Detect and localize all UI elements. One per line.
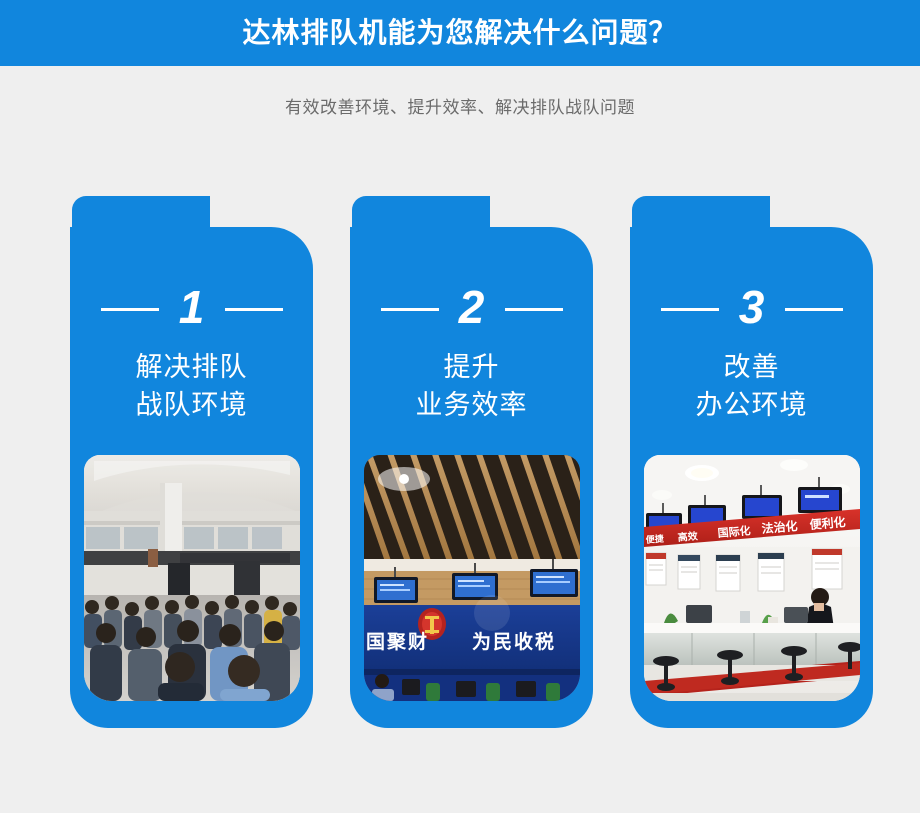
card-headline-line2: 办公环境 [630, 386, 873, 424]
divider-rule-right [225, 308, 283, 311]
card-number: 1 [177, 284, 207, 330]
card-number-row: 2 [350, 283, 593, 335]
svg-text:法治化: 法治化 [761, 518, 798, 536]
page-subtitle: 有效改善环境、提升效率、解决排队战队问题 [285, 93, 635, 118]
card-headline-line1: 提升 [444, 352, 500, 382]
crowded-waiting-hall-photo [84, 455, 300, 701]
card-headline: 解决排队 战队环境 [70, 348, 313, 424]
card-headline-line2: 业务效率 [350, 386, 593, 424]
feature-card-list: 1 解决排队 战队环境 [70, 196, 873, 730]
card-content: 3 改善 办公环境 [630, 227, 873, 728]
divider-rule-left [661, 308, 719, 311]
card-headline-line2: 战队环境 [70, 386, 313, 424]
card-headline-line1: 改善 [724, 352, 780, 382]
card-headline-line1: 解决排队 [136, 352, 248, 382]
divider-rule-right [785, 308, 843, 311]
card-content: 2 提升 业务效率 [350, 227, 593, 728]
page-title: 达林排队机能为您解决什么问题？ [242, 19, 677, 47]
service-counter-photo: 便捷 高效 国际化 法治化 便利化 [644, 455, 860, 701]
svg-text:为民收税: 为民收税 [472, 630, 556, 653]
divider-rule-right [505, 308, 563, 311]
svg-text:便利化: 便利化 [809, 514, 846, 532]
tax-service-hall-photo: 国聚财 为民收税 [364, 455, 580, 701]
svg-text:便捷: 便捷 [645, 532, 665, 545]
card-number: 2 [457, 284, 487, 330]
feature-card[interactable]: 3 改善 办公环境 [630, 196, 873, 728]
feature-card[interactable]: 2 提升 业务效率 [350, 196, 593, 728]
page-subtitle-container: 有效改善环境、提升效率、解决排队战队问题 [0, 66, 920, 144]
card-number: 3 [737, 284, 767, 330]
card-content: 1 解决排队 战队环境 [70, 227, 313, 728]
divider-rule-left [381, 308, 439, 311]
svg-text:国聚财: 国聚财 [366, 630, 429, 653]
feature-card[interactable]: 1 解决排队 战队环境 [70, 196, 313, 728]
card-number-row: 1 [70, 283, 313, 335]
card-headline: 提升 业务效率 [350, 348, 593, 424]
card-number-row: 3 [630, 283, 873, 335]
page-header-banner: 达林排队机能为您解决什么问题？ [0, 0, 920, 66]
divider-rule-left [101, 308, 159, 311]
card-headline: 改善 办公环境 [630, 348, 873, 424]
